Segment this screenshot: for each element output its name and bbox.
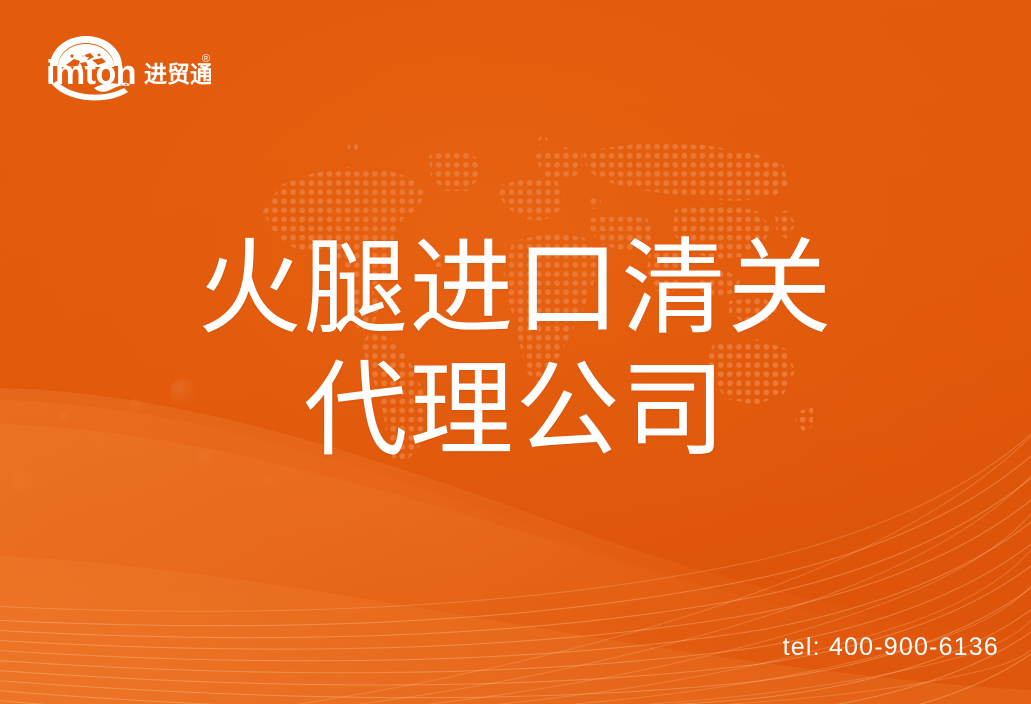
headline: 火腿进口清关 代理公司 (0, 228, 1031, 472)
headline-line-1: 火腿进口清关 (0, 228, 1031, 350)
logo-chinese-name: 进贸通 (144, 62, 211, 88)
bokeh-circle (262, 474, 276, 488)
logo-wordmark: imton (46, 54, 136, 92)
bokeh-circle (12, 470, 36, 494)
brand-logo[interactable]: imton 进贸通 ® (36, 26, 211, 106)
registered-trademark-icon: ® (202, 53, 210, 65)
promo-banner: imton 进贸通 ® 火腿进口清关 代理公司 tel: 400-900-613… (0, 0, 1031, 704)
headline-line-2: 代理公司 (0, 350, 1031, 472)
contact-phone[interactable]: tel: 400-900-6136 (783, 633, 999, 662)
brand-logo-graphic: imton 进贸通 ® (36, 26, 211, 106)
